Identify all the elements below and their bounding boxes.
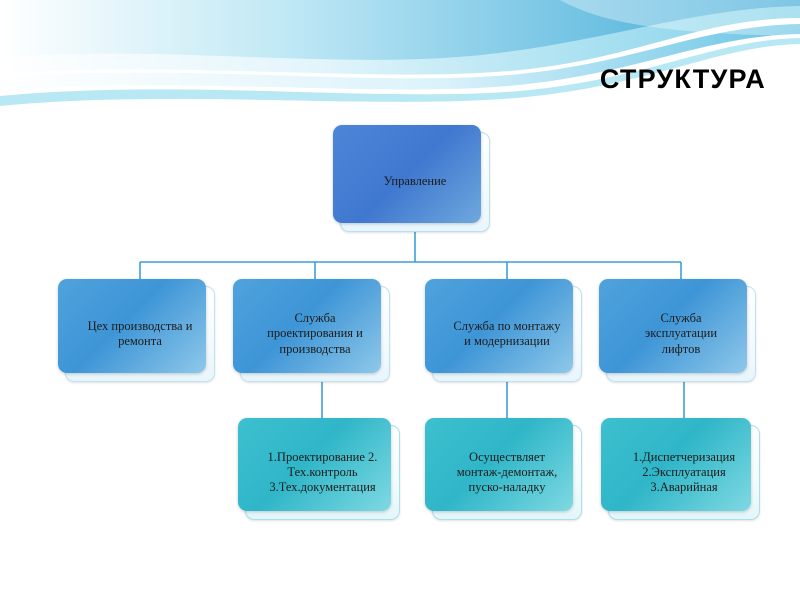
node-sluzhba-ekspluatacii-liftov[interactable]: Служба эксплуатации лифтов [606, 286, 756, 382]
node-label-line: 3.Аварийная [618, 480, 750, 495]
node-label-line: 1.Диспетчеризация [618, 450, 750, 465]
node-label-line: Служба по монтажу [442, 319, 572, 334]
node-ceh-proizvodstva-i-remonta[interactable]: Цех производства и ремонта [65, 286, 215, 382]
node-label: Управление [350, 174, 480, 189]
node-label-line: Осуществляет [442, 450, 572, 465]
node-lifty-details[interactable]: 1.Диспетчеризация 2.Эксплуатация 3.Авари… [608, 425, 760, 520]
node-label-line: проектирования и [250, 326, 380, 341]
node-label-line: 2.Эксплуатация [618, 465, 750, 480]
node-proektirovanie-details[interactable]: 1.Проектирование 2. Тех.контроль 3.Тех.д… [245, 425, 400, 520]
node-label-line: монтаж-демонтаж, [442, 465, 572, 480]
node-upravlenie[interactable]: Управление [340, 132, 490, 232]
node-label-line: лифтов [616, 342, 746, 357]
org-chart: Управление Цех производства и ремонта Сл… [0, 0, 800, 600]
node-label-line: и модернизации [442, 334, 572, 349]
node-label-line: 1.Проектирование 2. [255, 450, 390, 465]
node-label-line: производства [250, 342, 380, 357]
node-label-line: Тех.контроль [255, 465, 390, 480]
node-sluzhba-proektirovaniya[interactable]: Служба проектирования и производства [240, 286, 390, 382]
node-label-line: Служба [616, 311, 746, 326]
node-label-line: пуско-наладку [442, 480, 572, 495]
node-label-line: 3.Тех.документация [255, 480, 390, 495]
node-label-line: Цех производства и [75, 319, 205, 334]
node-montazh-details[interactable]: Осуществляет монтаж-демонтаж, пуско-нала… [432, 425, 582, 520]
node-label-line: Служба [250, 311, 380, 326]
node-sluzhba-po-montazhu[interactable]: Служба по монтажу и модернизации [432, 286, 582, 382]
node-label-line: ремонта [75, 334, 205, 349]
node-label-line: эксплуатации [616, 326, 746, 341]
